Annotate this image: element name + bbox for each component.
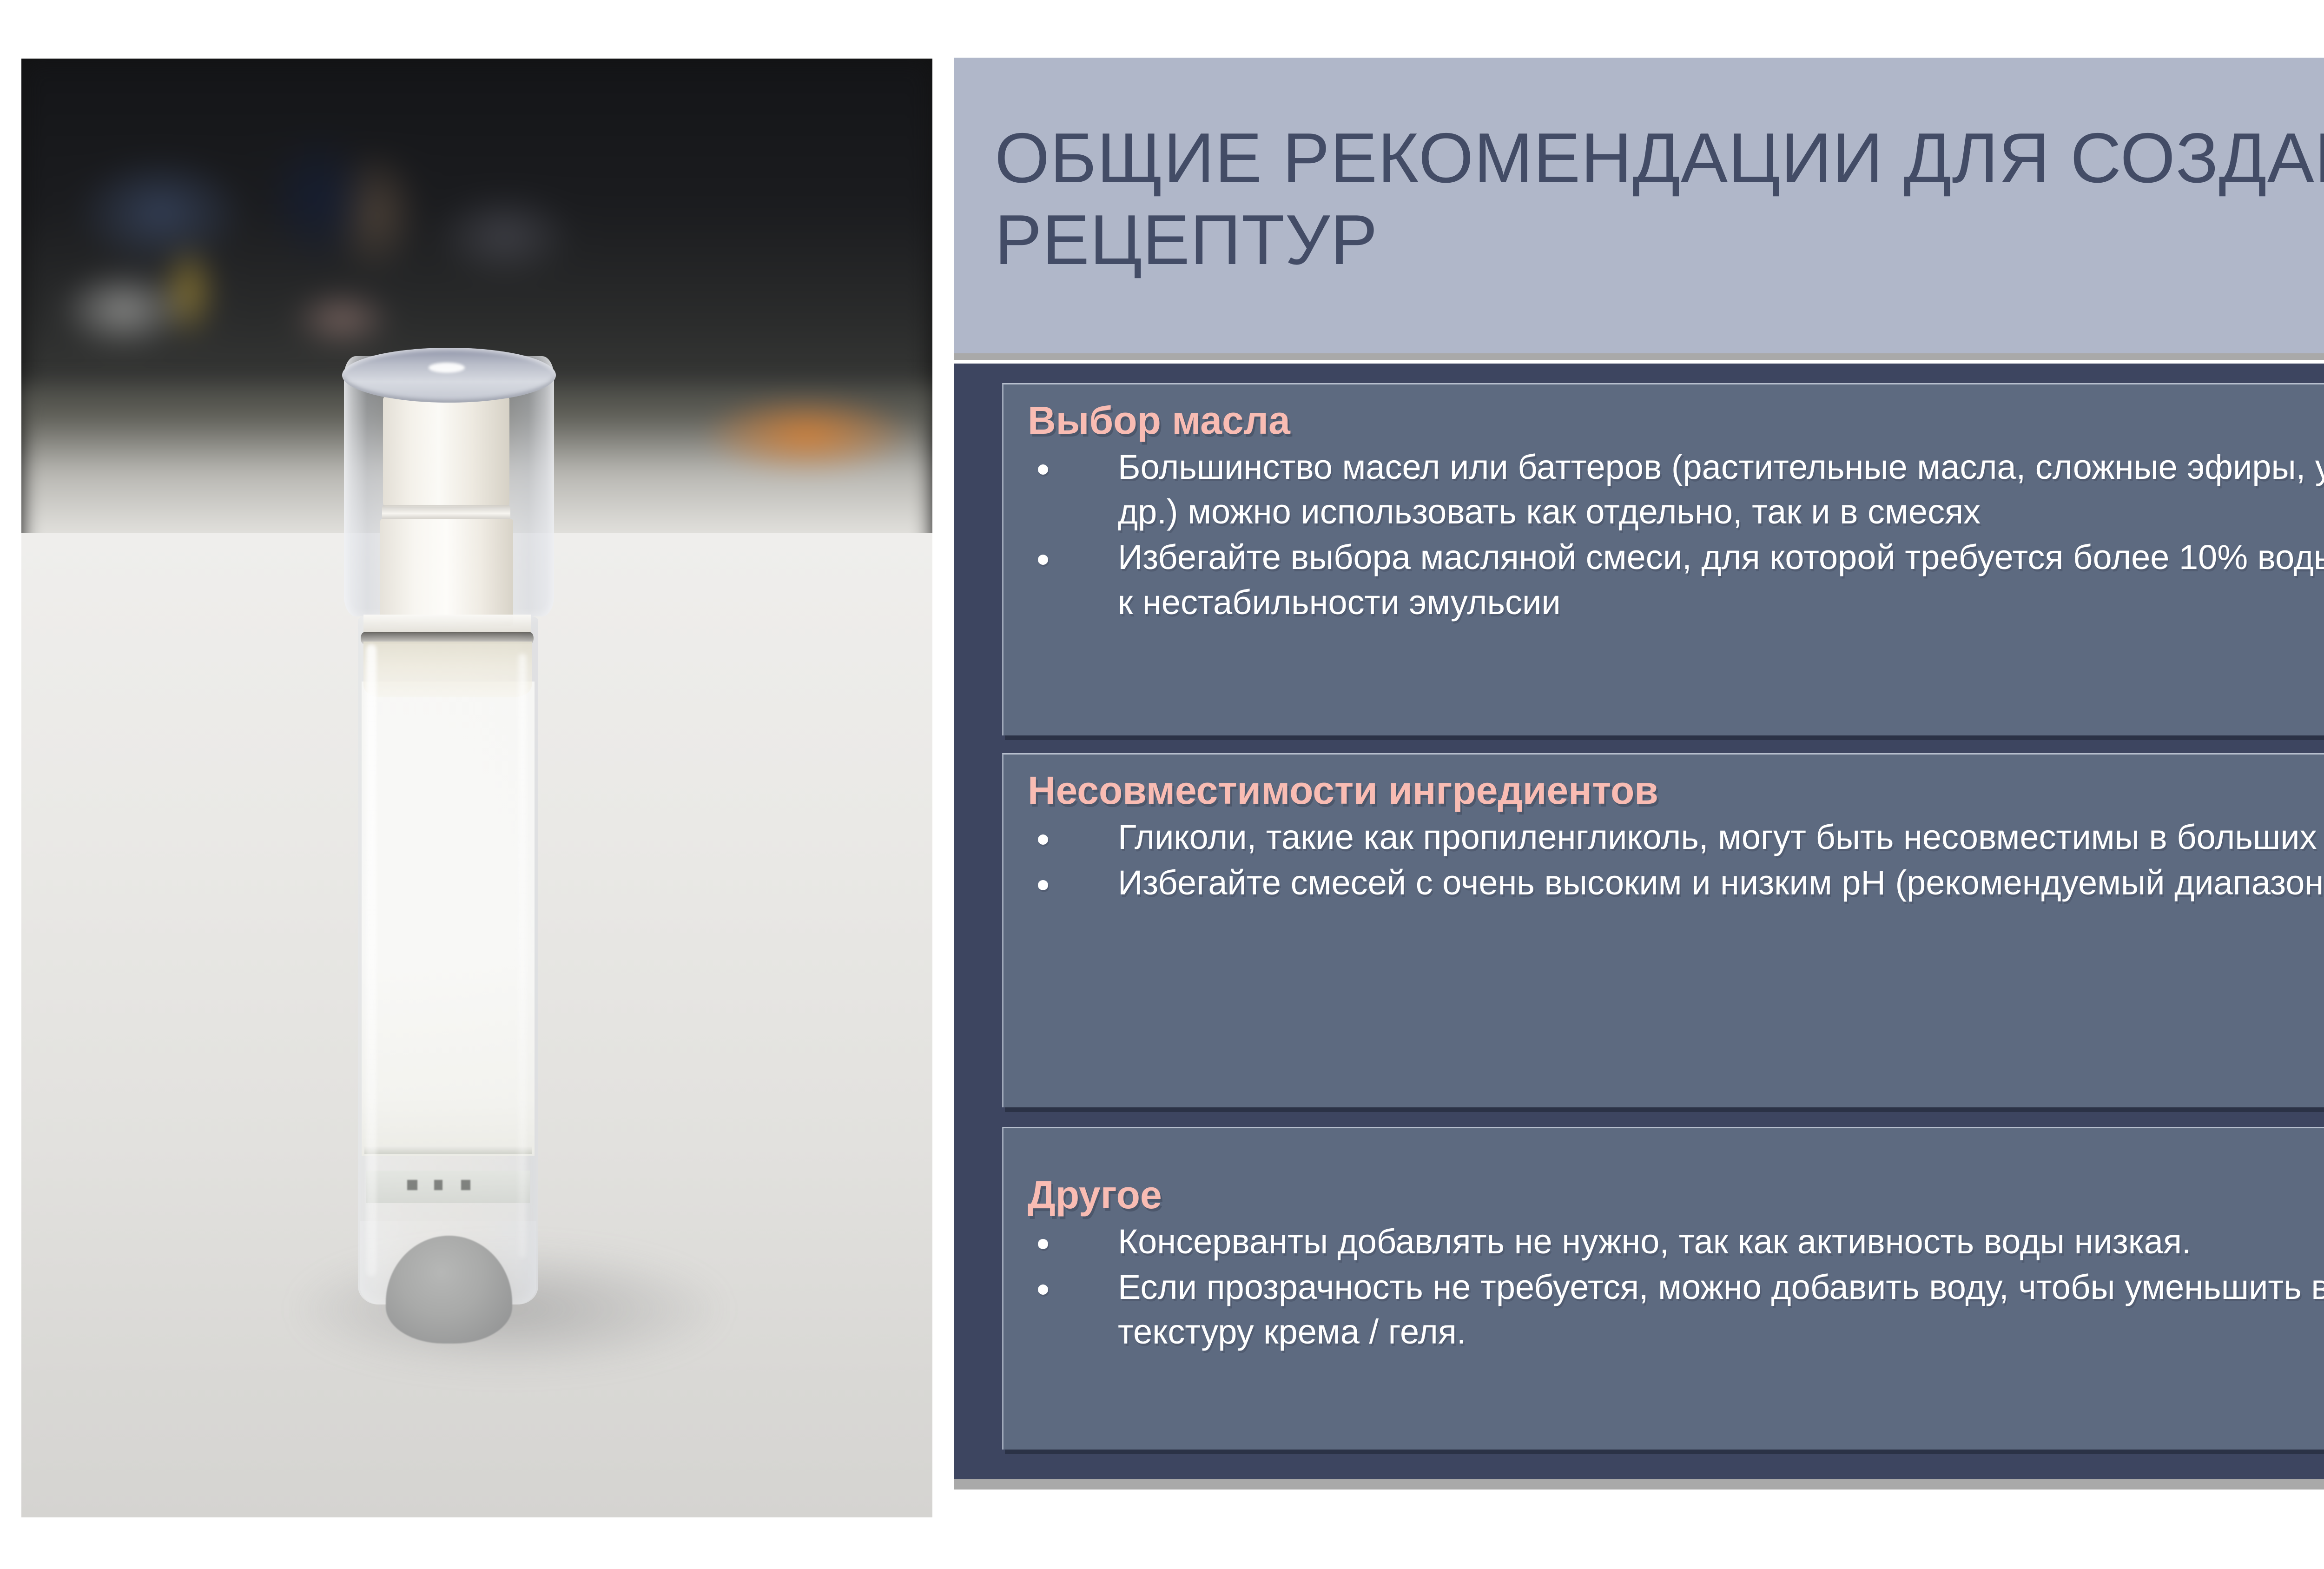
product-photo xyxy=(21,59,932,1517)
bullet-item: Если прозрачность не требуется, можно до… xyxy=(1028,1265,2324,1354)
presentation-slide: ОБЩИЕ РЕКОМЕНДАЦИИ ДЛЯ СОЗДАНИЯ РЕЦЕПТУР… xyxy=(0,0,2324,1569)
slide-title: ОБЩИЕ РЕКОМЕНДАЦИИ ДЛЯ СОЗДАНИЯ РЕЦЕПТУР xyxy=(995,117,2324,281)
content-card-incompatibilities: Несовместимости ингредиентов Гликоли, та… xyxy=(1002,753,2324,1107)
bullet-list: Гликоли, такие как пропиленгликоль, могу… xyxy=(1028,815,2324,905)
bottle-cap-specular-highlight xyxy=(429,363,465,373)
bottle-cap-top-ellipse xyxy=(342,348,556,403)
content-panel: Выбор масла Большинство масел или баттер… xyxy=(954,364,2324,1479)
bottle-pump-ring xyxy=(382,505,510,521)
bottle-highlight-left xyxy=(366,644,376,1277)
slide-title-bar: ОБЩИЕ РЕКОМЕНДАЦИИ ДЛЯ СОЗДАНИЯ РЕЦЕПТУР xyxy=(954,58,2324,353)
bottle-fill-line xyxy=(364,1146,532,1154)
card-heading: Выбор масла xyxy=(1028,398,2324,442)
bottle-pump-collar xyxy=(380,519,513,626)
bullet-item: Гликоли, такие как пропиленгликоль, могу… xyxy=(1028,815,2324,860)
bullet-list: Консерванты добавлять не нужно, так как … xyxy=(1028,1219,2324,1355)
bottle-neck-band xyxy=(363,615,531,633)
content-card-oil-selection: Выбор масла Большинство масел или баттер… xyxy=(1002,383,2324,735)
bottle-liquid-meniscus xyxy=(363,642,532,697)
bullet-item: Большинство масел или баттеров (растител… xyxy=(1028,445,2324,534)
bottle-graduation-marks xyxy=(407,1180,491,1190)
card-heading: Несовместимости ингредиентов xyxy=(1028,768,2324,812)
bottle-contents xyxy=(362,682,535,1156)
bottle-highlight-right xyxy=(519,654,526,1258)
card-heading: Другое xyxy=(1028,1173,2324,1217)
bullet-item: Консерванты добавлять не нужно, так как … xyxy=(1028,1219,2324,1264)
bullet-item: Избегайте выбора масляной смеси, для кот… xyxy=(1028,535,2324,624)
airless-pump-bottle xyxy=(337,356,561,1356)
bullet-list: Большинство масел или баттеров (растител… xyxy=(1028,445,2324,625)
content-card-other: Другое Консерванты добавлять не нужно, т… xyxy=(1002,1127,2324,1450)
bottle-pump-head xyxy=(383,396,509,507)
bullet-item: Избегайте смесей с очень высоким и низки… xyxy=(1028,861,2324,905)
